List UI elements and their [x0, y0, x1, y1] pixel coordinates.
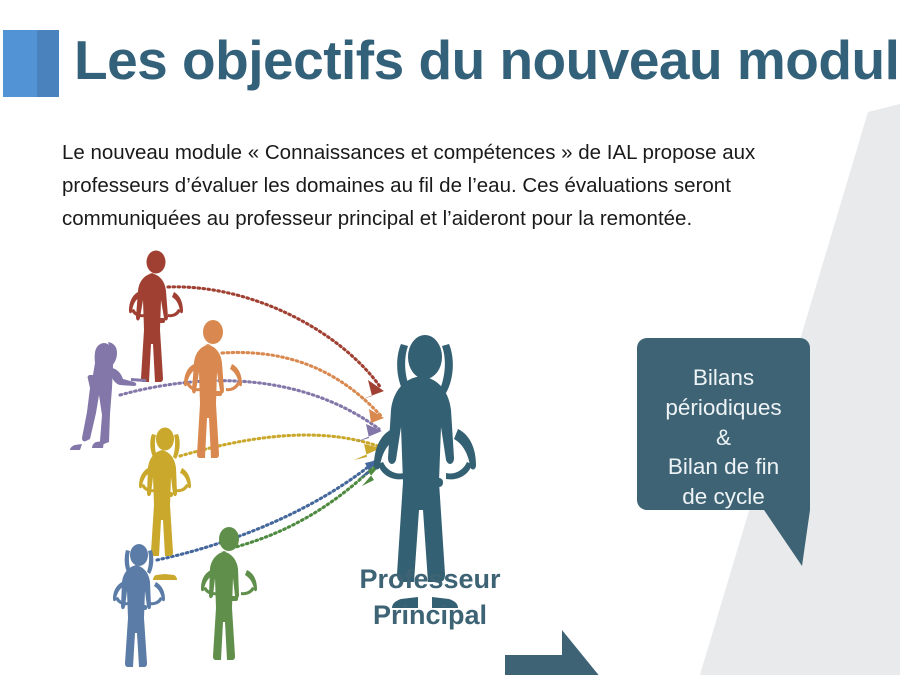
principal-label-line2: Principal: [330, 598, 530, 634]
principal-label-line1: Professeur: [330, 562, 530, 598]
teacher-figure-purple: [70, 342, 147, 450]
decoration-bar-dark: [37, 30, 59, 97]
process-arrow-icon: [505, 630, 601, 675]
body-paragraph: Le nouveau module « Connaissances et com…: [62, 136, 852, 236]
curve-gold: [180, 435, 378, 456]
callout-line-1: Bilans: [693, 363, 754, 393]
callout-text: Bilans périodiques & Bilan de fin de cyc…: [637, 338, 810, 537]
curve-blue: [157, 458, 379, 560]
title-decoration-bars: [3, 30, 61, 97]
teacher-figure-red: [129, 251, 183, 383]
slide-canvas: Les objectifs du nouveau module Le nouve…: [0, 0, 900, 675]
callout-line-5: de cycle: [682, 482, 765, 512]
principal-label: Professeur Principal: [330, 562, 530, 634]
callout-line-2: périodiques: [665, 393, 781, 423]
curve-purple: [120, 381, 379, 429]
callout-line-4: Bilan de fin: [668, 452, 779, 482]
teacher-figure-orange: [184, 320, 242, 458]
callout-line-3: &: [716, 423, 731, 453]
page-title: Les objectifs du nouveau module: [74, 28, 884, 93]
decoration-bar-light: [3, 30, 39, 97]
teacher-figure-blue: [113, 544, 165, 667]
callout-bubble: Bilans périodiques & Bilan de fin de cyc…: [637, 338, 810, 566]
